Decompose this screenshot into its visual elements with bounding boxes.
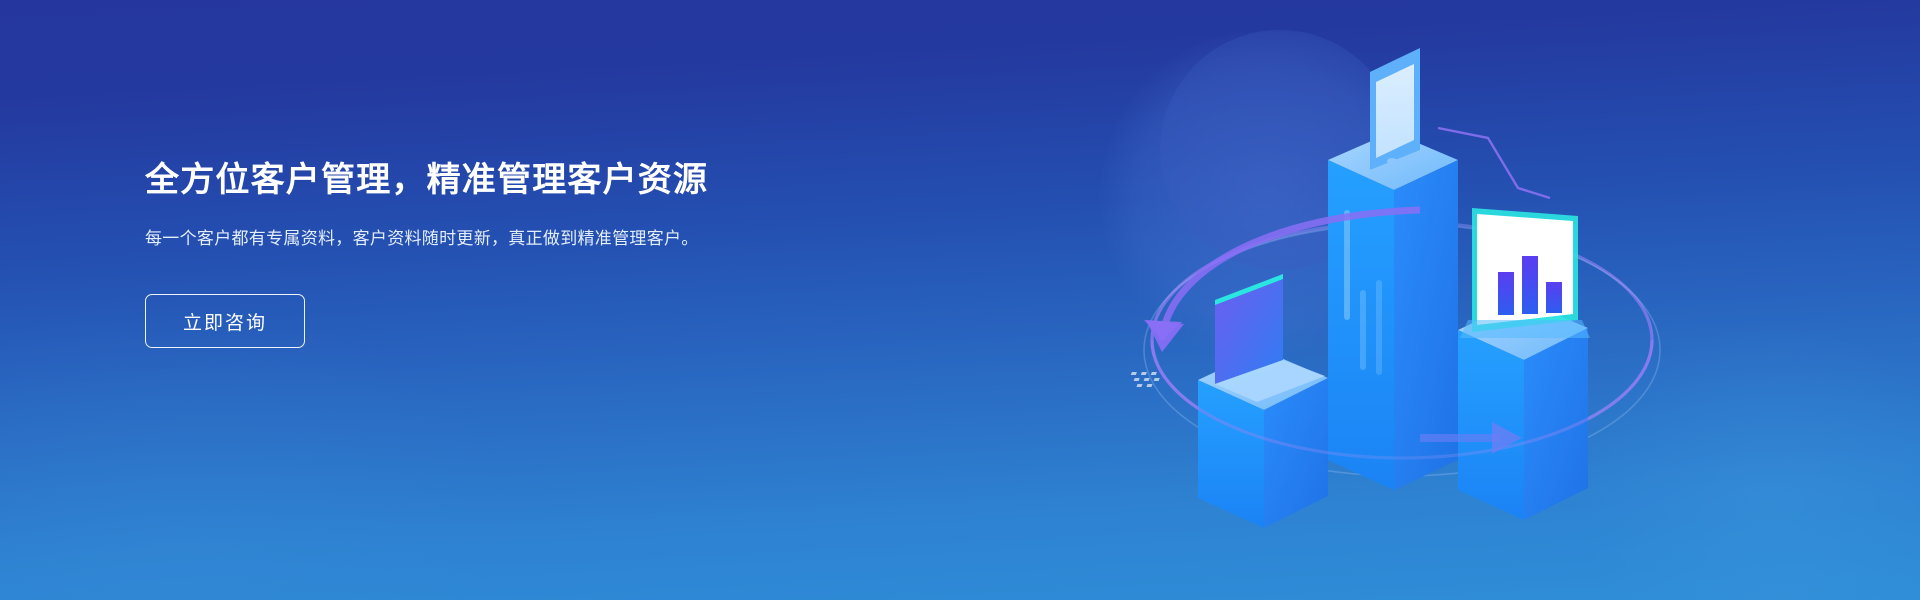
hero-banner: 全方位客户管理，精准管理客户资源 每一个客户都有专属资料，客户资料随时更新，真正… [0,0,1920,600]
hero-illustration [1120,20,1680,580]
hero-copy: 全方位客户管理，精准管理客户资源 每一个客户都有专属资料，客户资料随时更新，真正… [145,160,865,348]
consult-now-button[interactable]: 立即咨询 [145,294,305,348]
page-title: 全方位客户管理，精准管理客户资源 [145,160,865,201]
tablet-icon [1370,48,1420,170]
hero-subtitle: 每一个客户都有专属资料，客户资料随时更新，真正做到精准管理客户。 [145,225,730,253]
monitor-icon [1460,208,1590,338]
